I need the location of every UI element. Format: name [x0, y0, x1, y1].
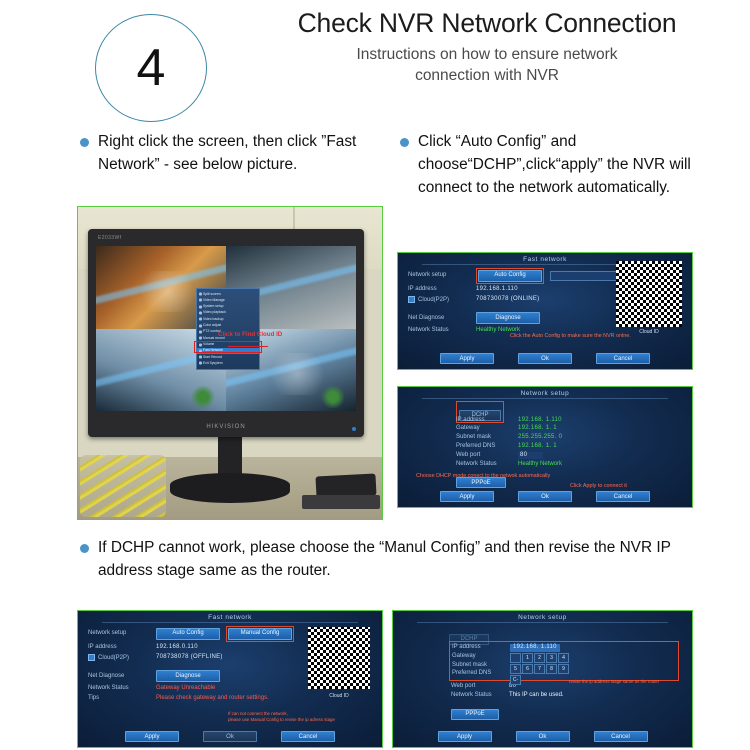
cloud-id-label: Cloud ID [620, 329, 678, 335]
label-preferred-dns: Preferred DNS [452, 670, 510, 677]
label-subnet-mask: Subnet mask [452, 662, 510, 669]
bullet-dot-icon [80, 544, 89, 553]
value-network-status: This IP can be used. [509, 692, 564, 699]
bullet-bottom: If DCHP cannot work, please choose the “… [80, 537, 700, 583]
value-preferred-dns: 192.168. 1. 1 [518, 443, 557, 450]
bullet-left: Right click the screen, then click ”Fast… [80, 131, 380, 177]
label-preferred-dns: Preferred DNS [456, 443, 518, 450]
photo-ethernet-cables [80, 455, 166, 517]
panel-fast-network-manual: Fast network Network setup Auto Config M… [77, 610, 383, 748]
apply-button[interactable]: Apply [438, 731, 492, 742]
panel-title: Network setup [393, 611, 692, 623]
label-network-status: Network Status [456, 461, 518, 468]
checkbox-icon[interactable] [408, 296, 415, 303]
photo-power-adapter-2 [302, 495, 380, 509]
label-gateway: Gateway [456, 425, 518, 432]
ok-button[interactable]: Ok [518, 491, 572, 502]
label-web-port: Web port [449, 683, 509, 690]
diagnose-button[interactable]: Diagnose [476, 312, 540, 324]
panel-footer-buttons: Apply Ok Cancel [398, 353, 692, 364]
value-ip-address[interactable]: 192.168. 1.110 [510, 644, 560, 651]
row-ip-address: IP address 192.168. 1.110 [456, 417, 671, 424]
monitor-stand-base [170, 473, 290, 503]
cloud-id-qr-code [616, 261, 682, 327]
value-subnet-mask: 255.255.255. 0 [518, 434, 562, 441]
page-subtitle-line1: Instructions on how to ensure network [232, 45, 742, 65]
cloud-id-qr-code [308, 627, 370, 689]
label-cloud-p2p: Cloud(P2P) [78, 654, 156, 662]
label-network-status: Network Status [398, 327, 476, 334]
value-network-status: Healthy Network [518, 461, 562, 468]
numeric-keypad[interactable]: 123456789C- [510, 653, 569, 685]
label-ip-address: IP address [78, 644, 156, 651]
label-ip-address: IP address [456, 417, 518, 424]
keypad-key[interactable]: 2 [534, 653, 545, 663]
value-network-status: Gateway Unreachable [156, 685, 215, 692]
manual-config-highlight: Manual Config [226, 626, 294, 642]
bullet-dot-icon [80, 138, 89, 147]
keypad-key[interactable]: 4 [558, 653, 569, 663]
value-ip-address: 192.168.1.110 [476, 286, 518, 293]
value-web-port[interactable]: 80 [518, 452, 543, 459]
checkbox-icon[interactable] [88, 654, 95, 661]
label-subnet-mask: Subnet mask [456, 434, 518, 441]
value-cloud-p2p: 708730078 (ONLINE) [476, 296, 539, 303]
monitor-brand-label: E2033Wf [98, 235, 121, 241]
row-preferred-dns: Preferred DNS 192.168. 1. 1 [456, 443, 671, 450]
page-title: Check NVR Network Connection [232, 8, 742, 38]
panel-network-setup-dhcp: Network setup DCHP IP address 192.168. 1… [397, 386, 693, 508]
cancel-button[interactable]: Cancel [596, 353, 650, 364]
value-ip-address: 192.168. 1.110 [518, 417, 562, 424]
manual-config-button[interactable]: Manual Config [228, 628, 292, 640]
value-ip-address: 192.168.0.110 [156, 644, 198, 651]
hint-auto-config: Click the Auto Config to make sure the N… [510, 333, 631, 340]
hint-revise-ip: revise the ip address stage same as the … [569, 679, 679, 685]
slide-root: 4 Check NVR Network Connection Instructi… [0, 0, 750, 750]
value-cloud-p2p: 708738078 (OFFLINE) [156, 654, 223, 661]
keypad-key[interactable]: C- [510, 675, 521, 685]
row-ip-address: IP address 192.168. 1.110 [452, 644, 676, 651]
keypad-key[interactable]: 9 [558, 664, 569, 674]
panel-title: Fast network [78, 611, 382, 623]
ok-button[interactable]: Ok [516, 731, 570, 742]
label-cloud-p2p-text: Cloud(P2P) [98, 655, 129, 661]
auto-config-button[interactable]: Auto Config [156, 628, 220, 640]
cancel-button[interactable]: Cancel [596, 491, 650, 502]
label-net-diagnose: Net Diagnose [78, 673, 156, 680]
label-gateway: Gateway [452, 653, 510, 660]
row-network-status: Network Status This IP can be used. [449, 692, 679, 699]
label-net-diagnose: Net Diagnose [398, 315, 476, 322]
value-tips: Please check gateway and router settings… [156, 695, 269, 702]
panel-fast-network-auto: Fast network Network setup Auto Config I… [397, 252, 693, 370]
cloud-id-label: Cloud ID [310, 693, 368, 699]
panel-footer-buttons: Apply Ok Cancel [393, 731, 692, 742]
panel-title: Network setup [398, 387, 692, 399]
apply-button[interactable]: Apply [440, 491, 494, 502]
pppoe-button[interactable]: PPPoE [451, 709, 499, 720]
header: Check NVR Network Connection Instruction… [232, 8, 742, 86]
step-number-badge: 4 [95, 14, 207, 122]
annotation-label: Click to Find Cloud ID [218, 331, 282, 338]
config-value-field[interactable] [550, 271, 626, 281]
panel-footer-buttons: Apply Ok Cancel [78, 731, 382, 742]
monitor-bezel: E2033Wf HIKVISION Split screenVideo Mana… [88, 229, 364, 437]
hint-manual-config: If can not connect the network, please u… [228, 711, 335, 722]
keypad-key[interactable]: 3 [546, 653, 557, 663]
step-number: 4 [137, 42, 166, 94]
hint-click-apply: Click Apply to connect it [570, 483, 627, 490]
apply-button[interactable]: Apply [125, 731, 179, 742]
auto-config-button[interactable]: Auto Config [478, 270, 542, 282]
keypad-key[interactable]: 7 [534, 664, 545, 674]
keypad-key[interactable]: 6 [522, 664, 533, 674]
bullet-dot-icon [400, 138, 409, 147]
monitor-photo: E2033Wf HIKVISION Split screenVideo Mana… [77, 206, 383, 520]
ok-button[interactable]: Ok [203, 731, 257, 742]
label-ip-address: IP address [398, 286, 476, 293]
bullet-bottom-text: If DCHP cannot work, please choose the “… [98, 537, 700, 583]
monitor-stand-neck [218, 435, 242, 477]
annotation-line [228, 346, 268, 347]
label-tips: Tips [78, 695, 156, 702]
keypad-key[interactable]: 8 [546, 664, 557, 674]
row-gateway: Gateway 192.168. 1. 1 [456, 425, 671, 432]
power-led-icon [352, 427, 356, 431]
cancel-button[interactable]: Cancel [594, 731, 648, 742]
label-network-setup: Network setup [398, 272, 476, 279]
keypad-key[interactable] [510, 653, 521, 663]
panel-network-setup-manual: Network setup DCHP IP address 192.168. 1… [392, 610, 693, 748]
bullet-right: Click “Auto Config” and choose“DCHP”,cli… [400, 131, 730, 200]
monitor-screen: Split screenVideo ManageSystem setupVide… [96, 246, 356, 411]
nvr-menu-item[interactable]: Exit Sysytem [197, 360, 259, 366]
nvr-context-menu[interactable]: Split screenVideo ManageSystem setupVide… [196, 288, 260, 370]
label-cloud-p2p: Cloud(P2P) [398, 296, 476, 304]
auto-config-highlight: Auto Config [476, 268, 544, 284]
label-network-status: Network Status [449, 692, 509, 699]
ok-button[interactable]: Ok [518, 353, 572, 364]
diagnose-button[interactable]: Diagnose [156, 670, 220, 682]
page-subtitle-line2: connection with NVR [232, 66, 742, 86]
label-web-port: Web port [456, 452, 518, 459]
value-gateway: 192.168. 1. 1 [518, 425, 557, 432]
monitor-logo: HIKVISION [206, 424, 245, 430]
row-network-status: Network Status Healthy Network [456, 461, 671, 468]
apply-button[interactable]: Apply [440, 353, 494, 364]
label-network-status: Network Status [78, 685, 156, 692]
label-ip-address: IP address [452, 644, 510, 651]
row-web-port: Web port 80 [456, 452, 671, 459]
label-network-setup: Network setup [78, 630, 156, 637]
hint-dhcp-mode: Choose DHCP mode,conect to the netwok au… [416, 473, 550, 480]
cancel-button[interactable]: Cancel [281, 731, 335, 742]
label-cloud-p2p-text: Cloud(P2P) [418, 297, 449, 303]
row-subnet-mask: Subnet mask 255.255.255. 0 [456, 434, 671, 441]
keypad-key[interactable]: 1 [522, 653, 533, 663]
keypad-key[interactable]: 5 [510, 664, 521, 674]
panel-footer-buttons: Apply Ok Cancel [398, 491, 692, 502]
bullet-right-text: Click “Auto Config” and choose“DCHP”,cli… [418, 131, 730, 200]
bullet-left-text: Right click the screen, then click ”Fast… [98, 131, 380, 177]
